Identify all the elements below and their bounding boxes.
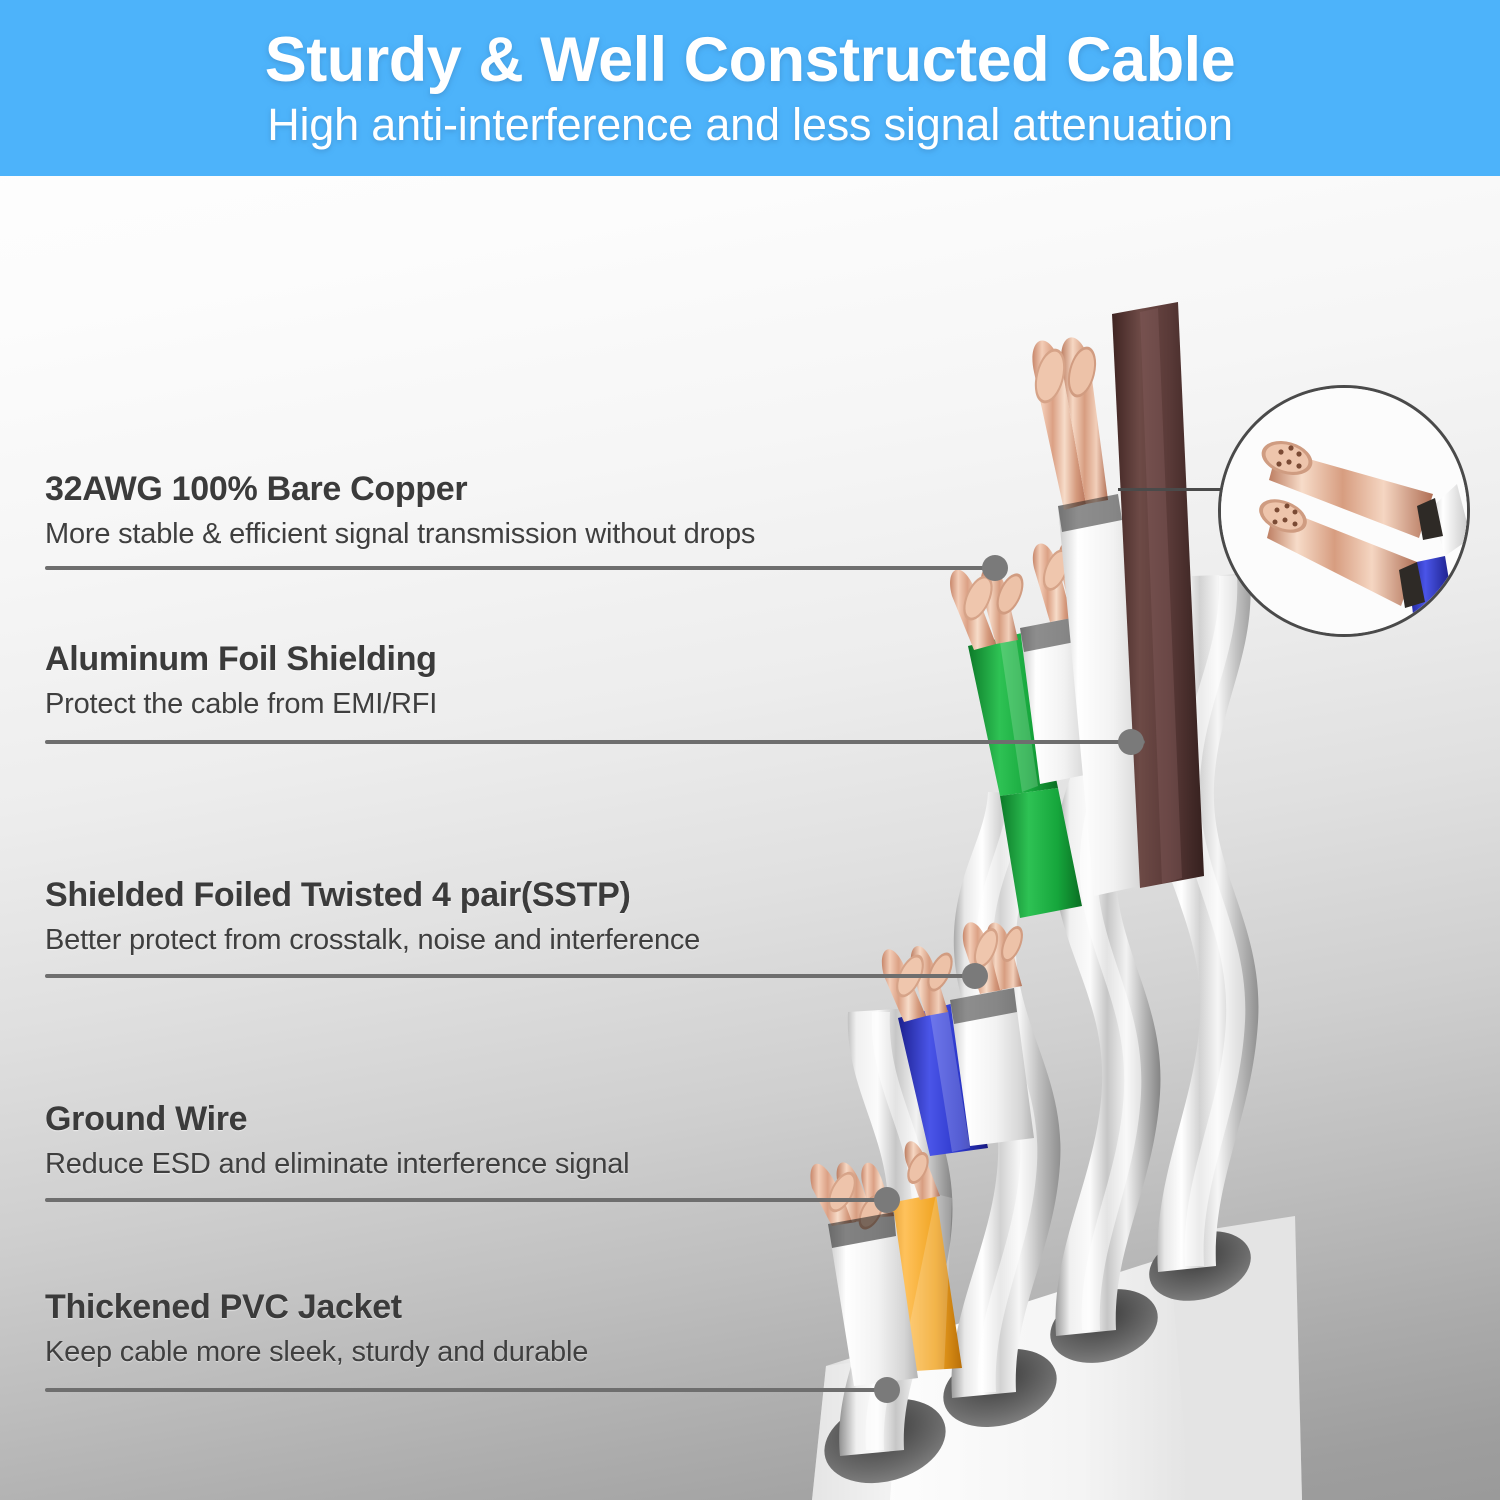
leader-line-bare-copper xyxy=(45,566,993,570)
feature-title: Thickened PVC Jacket xyxy=(45,1288,588,1327)
page-subtitle: High anti-interference and less signal a… xyxy=(267,102,1233,147)
feature-subtitle: Keep cable more sleek, sturdy and durabl… xyxy=(45,1336,588,1369)
copper-strand-magnifier xyxy=(1218,385,1470,637)
leader-dot-foil-shielding xyxy=(1118,729,1144,755)
infographic-canvas: Sturdy & Well Constructed Cable High ant… xyxy=(0,0,1500,1500)
leader-dot-bare-copper xyxy=(982,555,1008,581)
feature-title: Ground Wire xyxy=(45,1100,629,1139)
leader-line-sstp xyxy=(45,974,975,978)
feature-title: Shielded Foiled Twisted 4 pair(SSTP) xyxy=(45,876,700,915)
feature-title: Aluminum Foil Shielding xyxy=(45,640,437,679)
leader-dot-pvc-jacket xyxy=(874,1377,900,1403)
feature-foil-shielding: Aluminum Foil Shielding Protect the cabl… xyxy=(45,640,437,721)
header-banner: Sturdy & Well Constructed Cable High ant… xyxy=(0,0,1500,176)
feature-bare-copper: 32AWG 100% Bare Copper More stable & eff… xyxy=(45,470,755,551)
feature-title: 32AWG 100% Bare Copper xyxy=(45,470,755,509)
leader-dot-ground-wire xyxy=(874,1187,900,1213)
feature-subtitle: Protect the cable from EMI/RFI xyxy=(45,688,437,721)
feature-subtitle: More stable & efficient signal transmiss… xyxy=(45,518,755,551)
feature-sstp: Shielded Foiled Twisted 4 pair(SSTP) Bet… xyxy=(45,876,700,957)
leader-line-ground-wire xyxy=(45,1198,885,1202)
leader-line-pvc-jacket xyxy=(45,1388,885,1392)
feature-subtitle: Better protect from crosstalk, noise and… xyxy=(45,924,700,957)
feature-pvc-jacket: Thickened PVC Jacket Keep cable more sle… xyxy=(45,1288,588,1369)
inset-connector-line xyxy=(1118,488,1230,491)
leader-line-foil-shielding xyxy=(45,740,1145,744)
page-title: Sturdy & Well Constructed Cable xyxy=(265,29,1235,92)
leader-dot-sstp xyxy=(962,963,988,989)
feature-ground-wire: Ground Wire Reduce ESD and eliminate int… xyxy=(45,1100,629,1181)
feature-subtitle: Reduce ESD and eliminate interference si… xyxy=(45,1148,629,1181)
